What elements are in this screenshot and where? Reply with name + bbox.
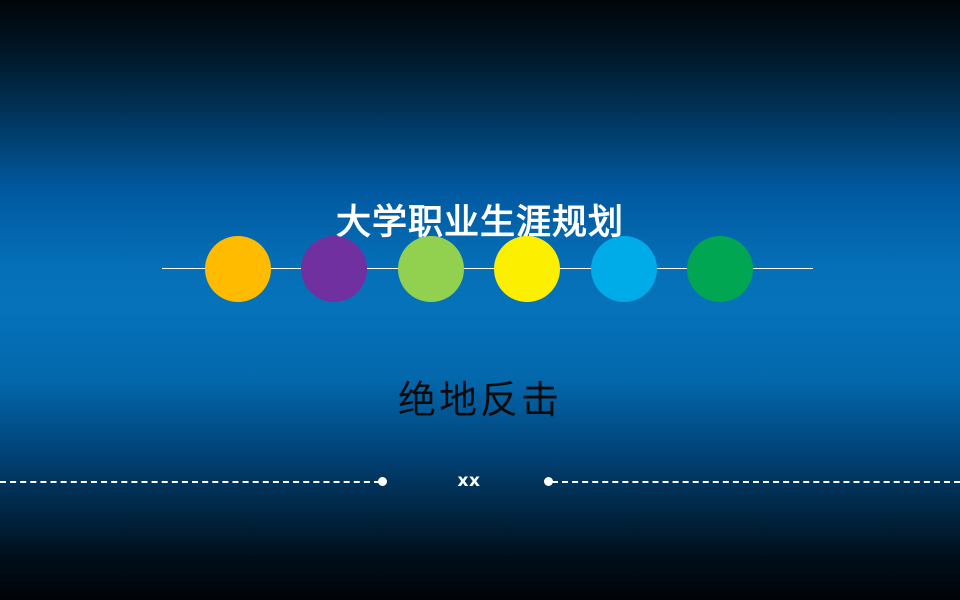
rule-end-dot-left: [378, 477, 387, 486]
footer-label: xx: [400, 470, 538, 492]
dashed-rule-left: [0, 481, 380, 483]
timeline-circle-orange[interactable]: [205, 236, 271, 302]
timeline-graphic: [0, 236, 960, 304]
timeline-circle-yellow[interactable]: [494, 236, 560, 302]
slide-subtitle: 绝地反击: [0, 375, 960, 425]
footer-divider: xx: [0, 462, 960, 504]
timeline-circle-light-green[interactable]: [398, 236, 464, 302]
presentation-slide: 大学职业生涯规划 绝地反击 xx: [0, 0, 960, 600]
timeline-circle-purple[interactable]: [301, 236, 367, 302]
timeline-circle-green[interactable]: [687, 236, 753, 302]
timeline-circle-cyan[interactable]: [591, 236, 657, 302]
dashed-rule-right: [552, 481, 960, 483]
